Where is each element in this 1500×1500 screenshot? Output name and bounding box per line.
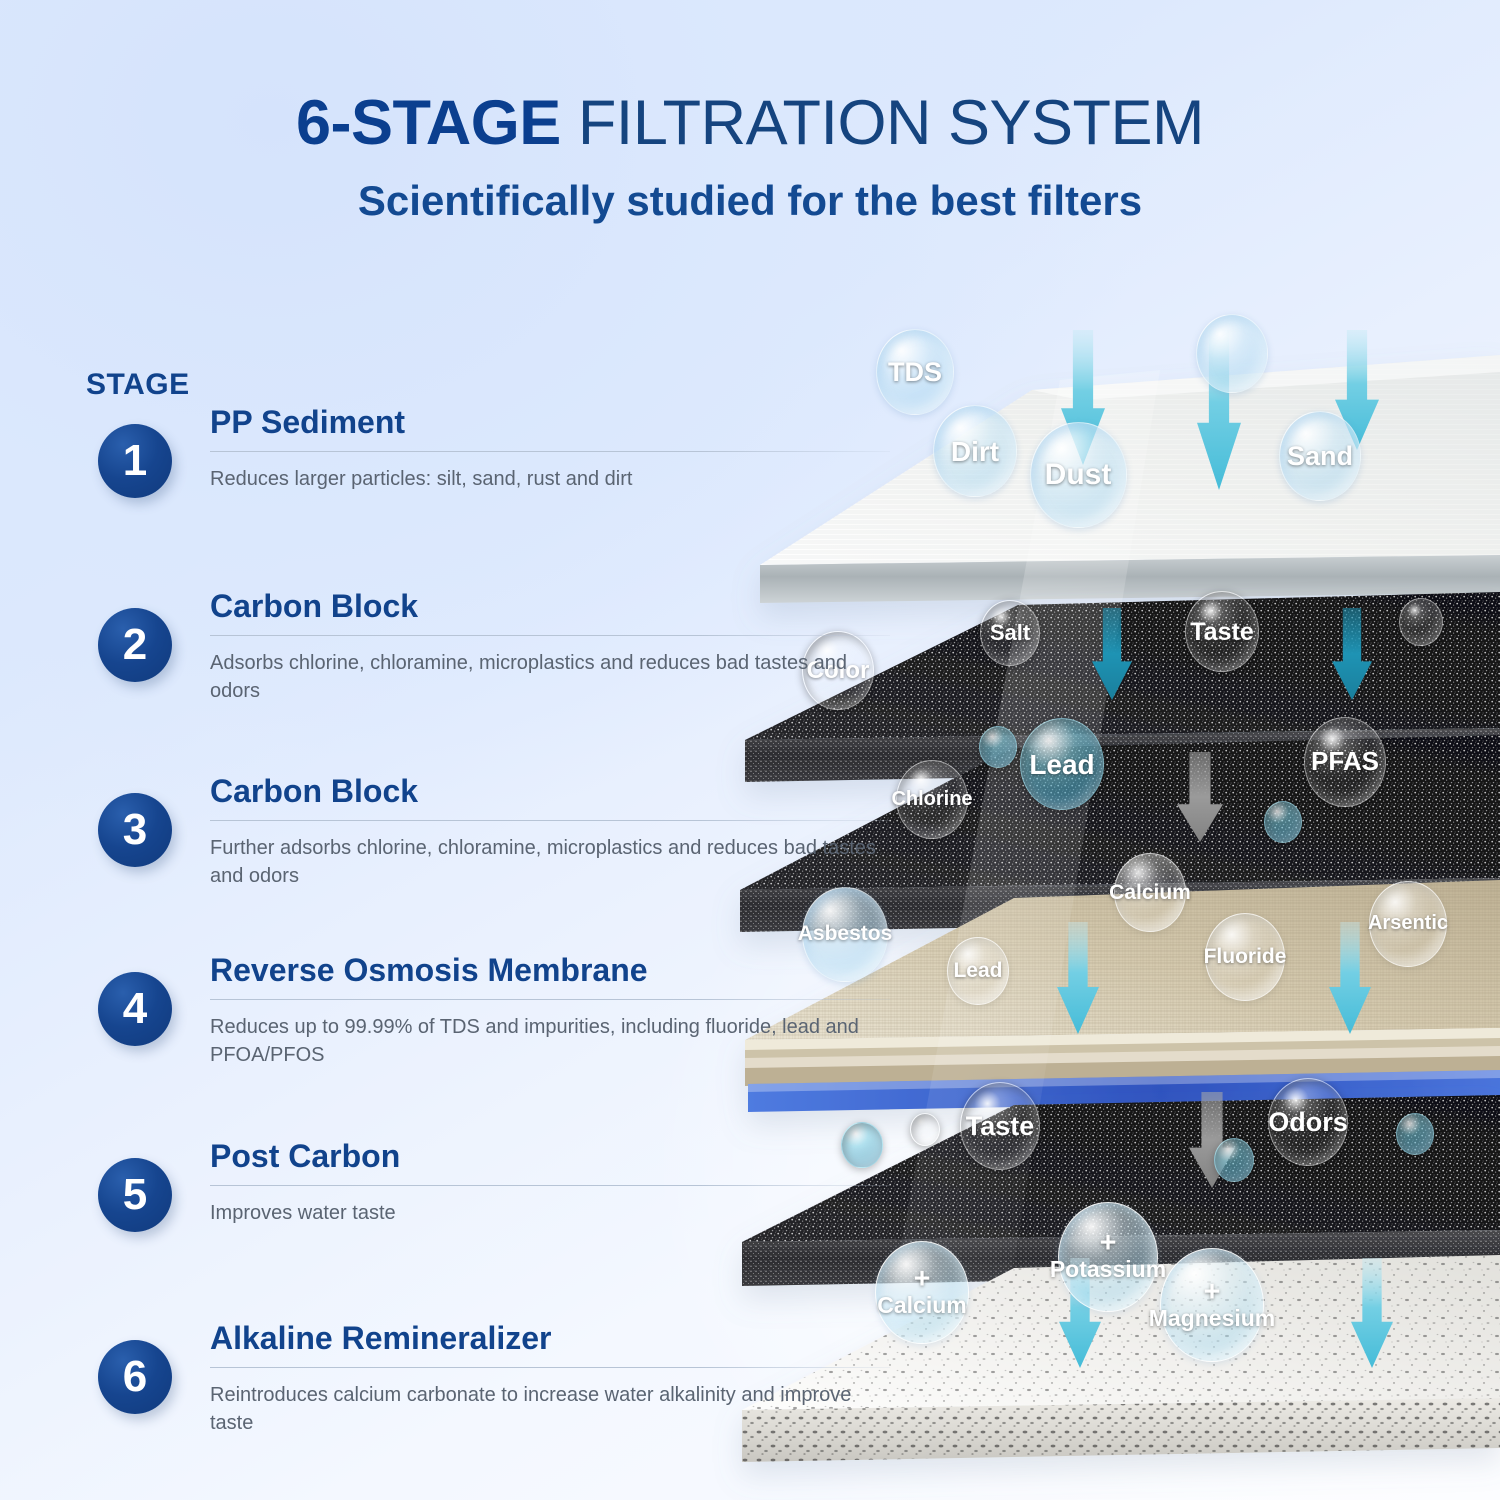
stage-divider-1 xyxy=(210,451,890,452)
stage5-arrow xyxy=(1189,1092,1235,1188)
stage-title-3: Carbon Block xyxy=(210,775,890,809)
stage2-arrow-right xyxy=(1332,608,1372,700)
stage3-arrow xyxy=(1177,752,1223,842)
stage6-arrow-right xyxy=(1351,1258,1393,1368)
stage-divider-3 xyxy=(210,820,890,821)
stage-divider-4 xyxy=(210,999,890,1000)
stage4-arrow-left xyxy=(1057,922,1099,1034)
stage-title-2: Carbon Block xyxy=(210,590,890,624)
stage-title-5: Post Carbon xyxy=(210,1140,890,1174)
stage-divider-6 xyxy=(210,1367,890,1368)
stage6-arrow-left xyxy=(1059,1258,1101,1368)
stage-title-1: PP Sediment xyxy=(210,406,890,440)
stage-title-6: Alkaline Remineralizer xyxy=(210,1322,890,1356)
stage-number-badge-6: 6 xyxy=(98,1340,172,1414)
inflow-arrow-2 xyxy=(1197,330,1241,490)
stage4-arrow-right xyxy=(1329,922,1371,1034)
stage-description-3: Further adsorbs chlorine, chloramine, mi… xyxy=(210,834,890,891)
stage1-to-2-arrow xyxy=(1092,608,1132,700)
stage-title-4: Reverse Osmosis Membrane xyxy=(210,954,890,988)
stage-number-badge-3: 3 xyxy=(98,793,172,867)
stage-number-badge-1: 1 xyxy=(98,424,172,498)
stage-description-6: Reintroduces calcium carbonate to increa… xyxy=(210,1381,890,1438)
stage-divider-2 xyxy=(210,635,890,636)
stage-body-2: Carbon BlockAdsorbs chlorine, chloramine… xyxy=(210,590,890,705)
stage-number-badge-4: 4 xyxy=(98,972,172,1046)
stage-body-1: PP SedimentReduces larger particles: sil… xyxy=(210,406,890,493)
stage-body-3: Carbon BlockFurther adsorbs chlorine, ch… xyxy=(210,775,890,890)
stage-body-4: Reverse Osmosis MembraneReduces up to 99… xyxy=(210,954,890,1069)
stage-body-6: Alkaline RemineralizerReintroduces calci… xyxy=(210,1322,890,1437)
inflow-arrow-1 xyxy=(1061,330,1105,465)
filter-stack-diagram: TDSDirtDustSandColorSaltTasteChlorineLea… xyxy=(0,0,1500,1500)
stage-number-badge-2: 2 xyxy=(98,608,172,682)
stage-body-5: Post CarbonImproves water taste xyxy=(210,1140,890,1227)
infographic-page: 6-STAGE FILTRATION SYSTEM Scientifically… xyxy=(0,0,1500,1500)
flow-arrows-svg xyxy=(0,0,1500,1500)
stage-description-2: Adsorbs chlorine, chloramine, microplast… xyxy=(210,649,890,706)
stage-description-4: Reduces up to 99.99% of TDS and impuriti… xyxy=(210,1013,890,1070)
stage-description-5: Improves water taste xyxy=(210,1199,890,1227)
inflow-arrow-3 xyxy=(1335,330,1379,450)
stage-description-1: Reduces larger particles: silt, sand, ru… xyxy=(210,465,890,493)
stage-number-badge-5: 5 xyxy=(98,1158,172,1232)
stage-column-label: STAGE xyxy=(86,368,190,402)
stage-divider-5 xyxy=(210,1185,890,1186)
